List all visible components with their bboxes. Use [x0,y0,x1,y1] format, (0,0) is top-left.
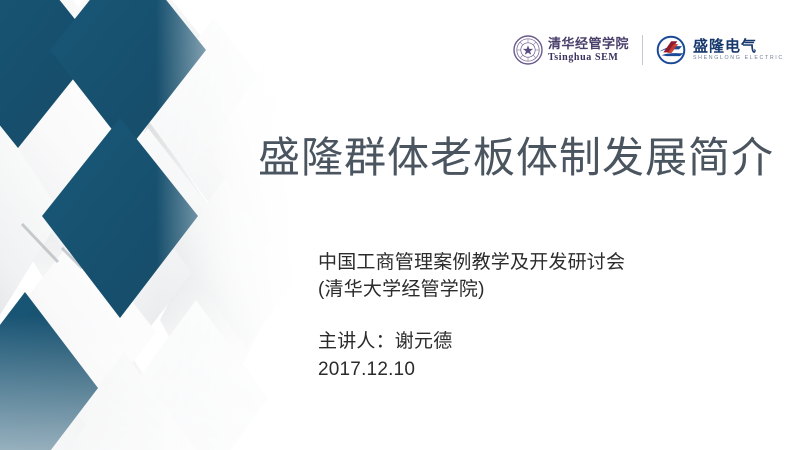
logo-divider [642,35,643,65]
slide-subtitle: 中国工商管理案例教学及开发研讨会 (清华大学经管学院) [318,250,758,304]
shenglong-name-en: SHENGLONG ELECTRIC [693,56,784,62]
presentation-date: 2017.12.10 [318,356,758,384]
subtitle-line-2: (清华大学经管学院) [318,277,758,304]
shenglong-electric-logo: 盛隆电气 SHENGLONG ELECTRIC [656,35,782,65]
presentation-slide: 清华经管学院 Tsinghua SEM 盛隆电气 SHENGLONG ELECT… [0,0,800,450]
presenter-name: 主讲人：谢元德 [318,328,758,356]
diamond-pattern-decoration [0,0,300,450]
tsinghua-logo-text: 清华经管学院 Tsinghua SEM [548,37,629,63]
logo-bar: 清华经管学院 Tsinghua SEM 盛隆电气 SHENGLONG ELECT… [513,27,782,73]
subtitle-line-1: 中国工商管理案例教学及开发研讨会 [318,250,758,277]
presenter-block: 主讲人：谢元德 2017.12.10 [318,328,758,383]
shenglong-name-cn: 盛隆电气 [693,38,782,55]
tsinghua-sem-logo: 清华经管学院 Tsinghua SEM [513,35,629,65]
tsinghua-seal-icon [513,35,543,65]
shenglong-logo-text: 盛隆电气 SHENGLONG ELECTRIC [693,38,782,61]
slide-title: 盛隆群体老板体制发展简介 [258,134,778,182]
tsinghua-name-en: Tsinghua SEM [548,52,629,64]
shenglong-emblem-icon [656,35,688,65]
tsinghua-name-cn: 清华经管学院 [548,37,629,52]
